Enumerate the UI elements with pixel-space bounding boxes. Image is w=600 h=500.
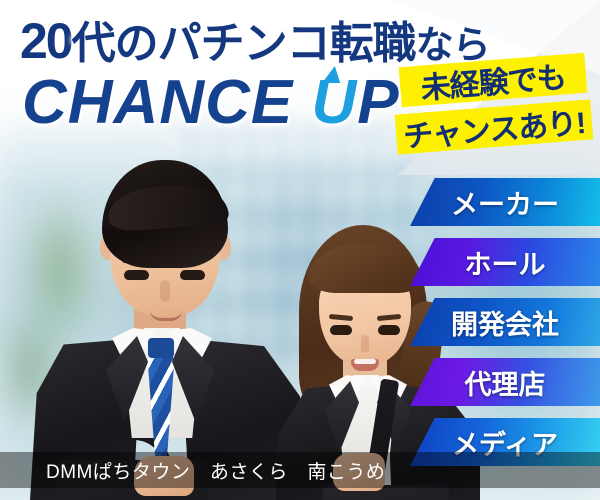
man-tie-knot: [148, 338, 174, 358]
woman-eyebrow-right: [377, 314, 401, 321]
ad-banner[interactable]: 20代のパチンコ転職なら CHANCE U P 未経験でも チャンスあり! メー…: [0, 0, 600, 500]
category-agency[interactable]: 代理店: [410, 358, 600, 406]
category-development-company-label: 開発会社: [451, 303, 559, 342]
headline-number: 20: [20, 13, 72, 69]
logo-chance-up: CHANCE U P: [22, 72, 400, 134]
category-hall[interactable]: ホール: [410, 238, 600, 286]
photo-businessman: [30, 160, 300, 500]
category-list: メーカー ホール 開発会社 代理店 メディア: [410, 178, 600, 478]
woman-nose: [361, 335, 369, 353]
logo-u-letter: U: [311, 72, 357, 134]
woman-eyebrow-left: [329, 314, 353, 321]
caption-bar: DMMぱちタウン あさくら 南こうめ: [0, 452, 600, 488]
category-hall-label: ホール: [465, 243, 546, 282]
category-maker[interactable]: メーカー: [410, 178, 600, 226]
man-nose: [160, 280, 170, 302]
man-hair: [102, 160, 228, 268]
logo-p-letter: P: [357, 68, 399, 137]
headline: 20代のパチンコ転職なら: [20, 16, 490, 66]
woman-eye-right: [378, 325, 400, 335]
category-maker-label: メーカー: [451, 183, 559, 222]
woman-mouth: [351, 359, 379, 371]
man-eye-left: [124, 270, 149, 280]
caption-text: DMMぱちタウン あさくら 南こうめ: [46, 457, 385, 484]
logo-chance-text: CHANCE: [22, 68, 293, 137]
category-agency-label: 代理店: [465, 363, 546, 402]
category-development-company[interactable]: 開発会社: [410, 298, 600, 346]
woman-eye-left: [330, 325, 352, 335]
man-eye-right: [180, 270, 205, 280]
headline-middle: 代のパチンコ転職: [72, 19, 416, 68]
